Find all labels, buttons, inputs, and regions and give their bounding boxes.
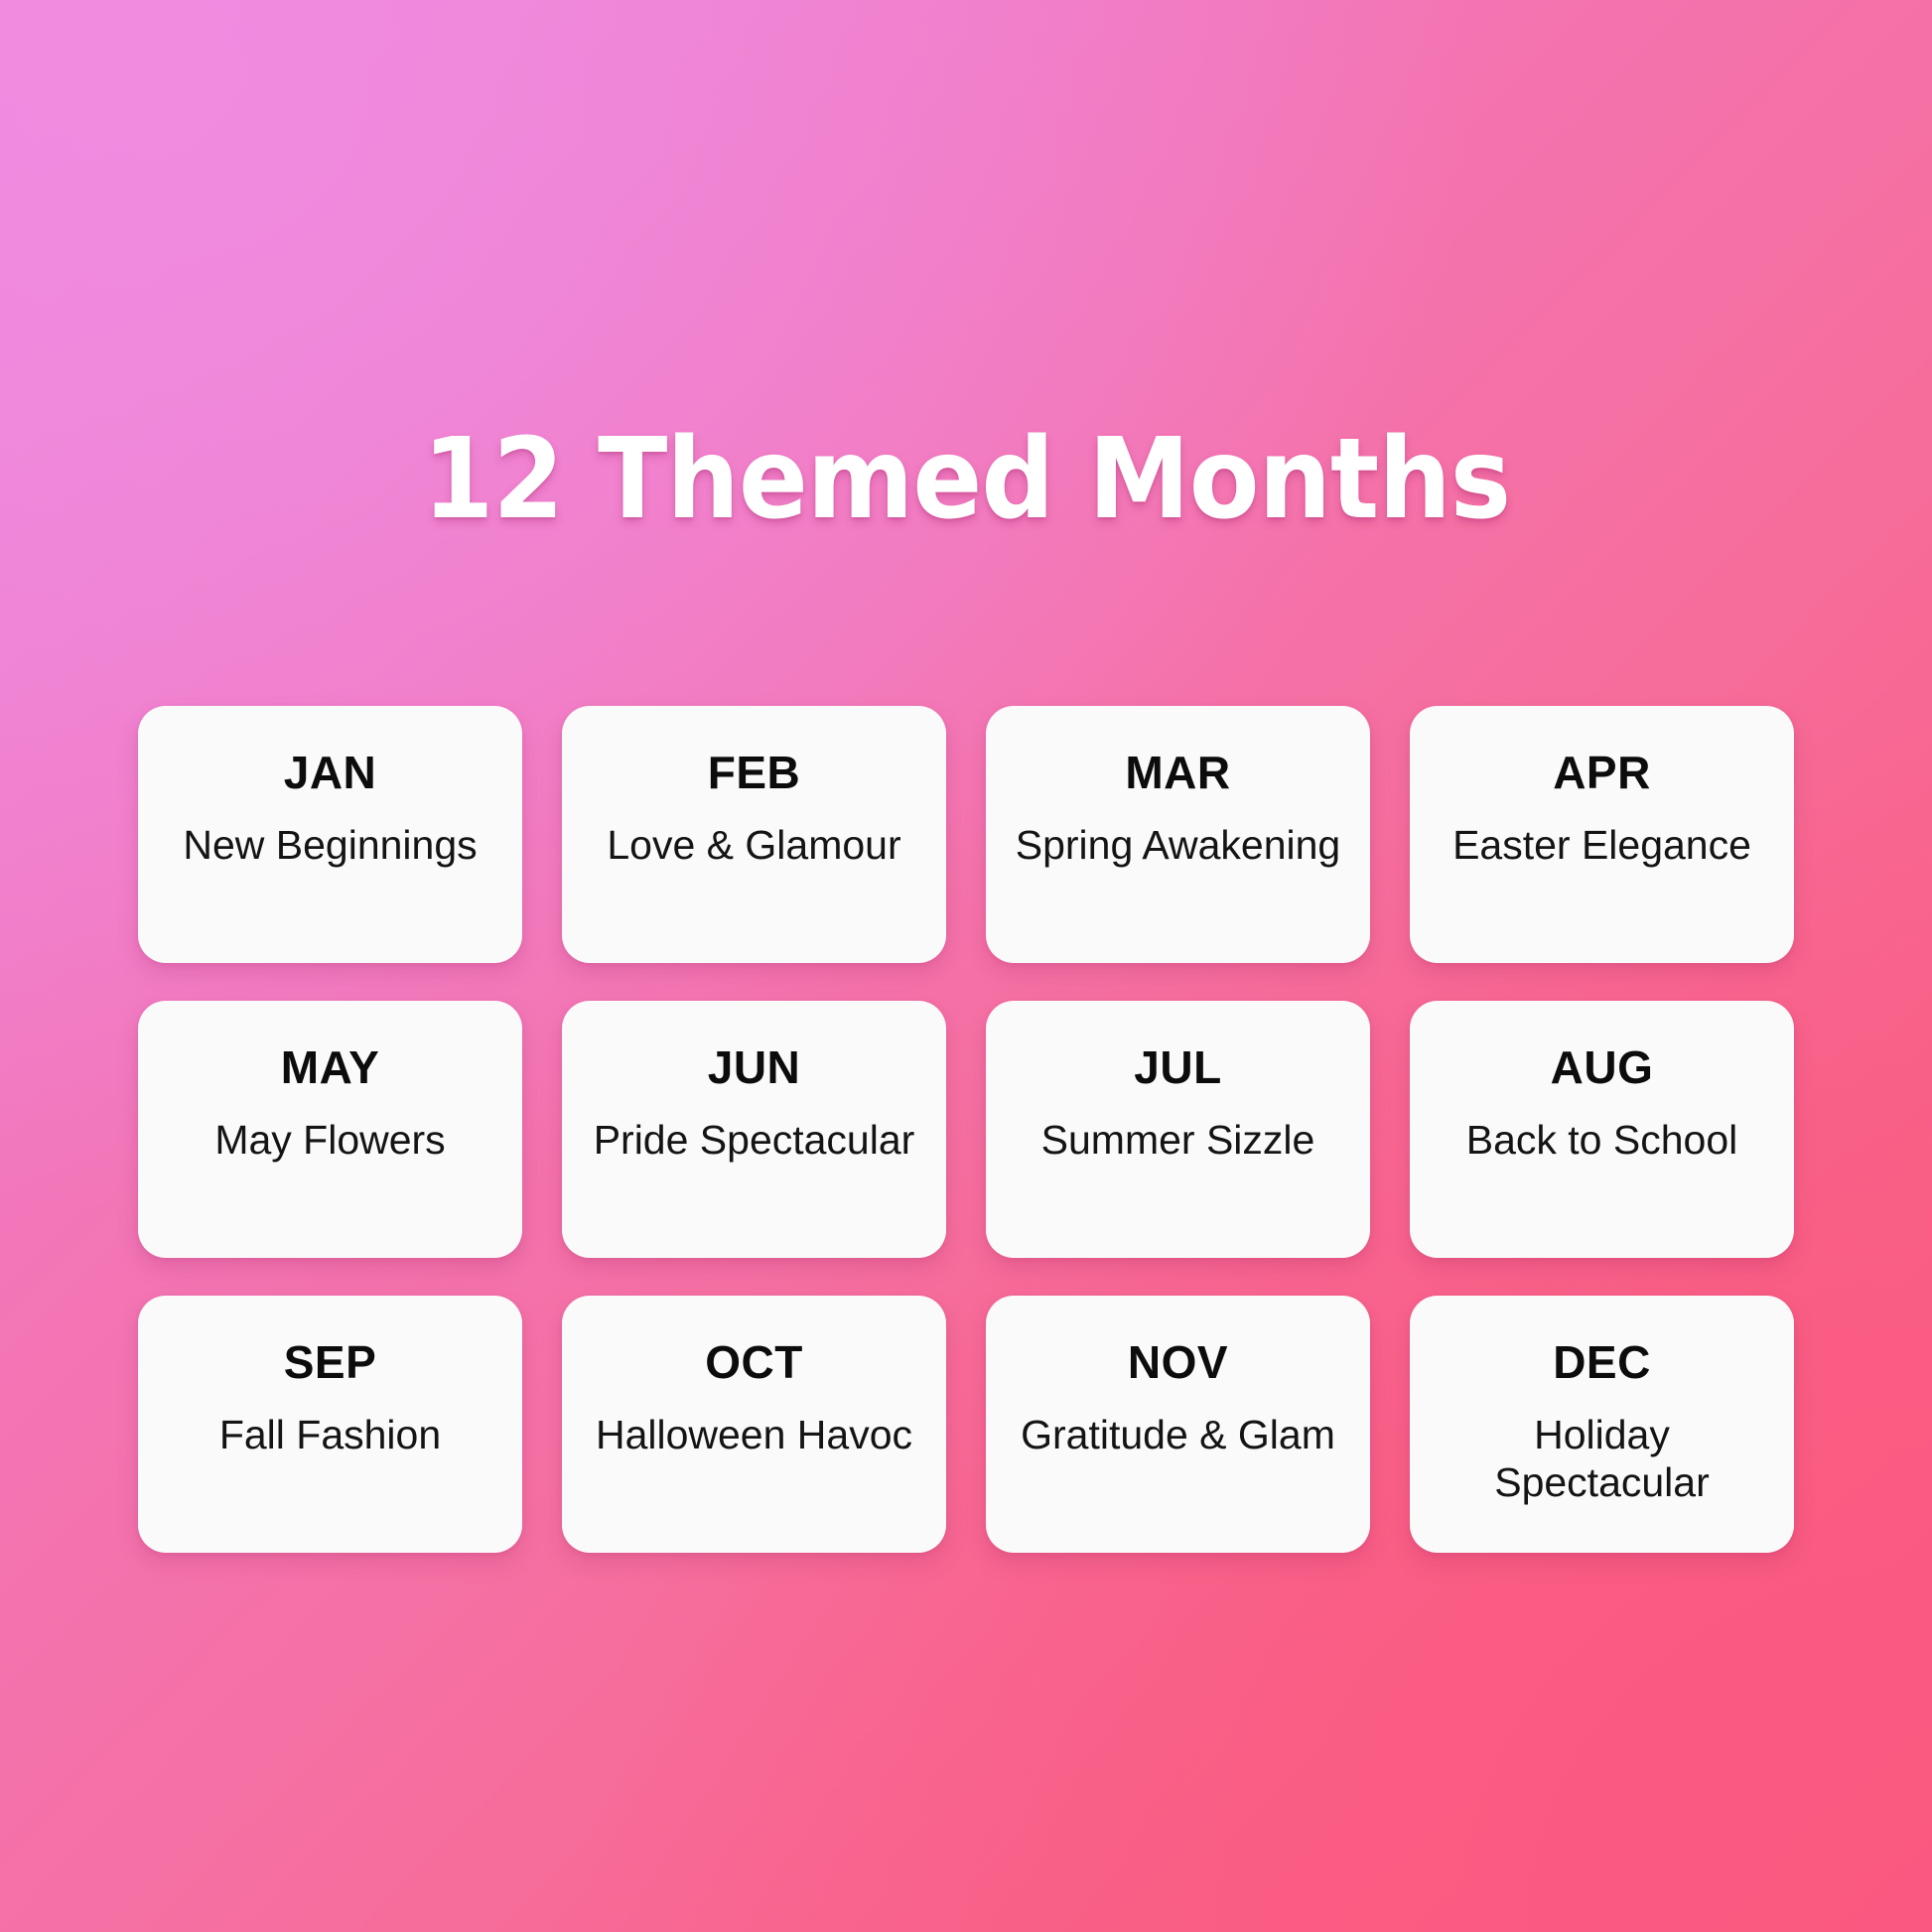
months-grid: JAN New Beginnings FEB Love & Glamour MA… [138,706,1794,1553]
month-card-mar[interactable]: MAR Spring Awakening [986,706,1370,963]
month-card-feb[interactable]: FEB Love & Glamour [562,706,946,963]
month-card-nov[interactable]: NOV Gratitude & Glam [986,1296,1370,1553]
month-theme-label: Pride Spectacular [594,1116,915,1164]
month-abbr-label: JUN [708,1044,801,1090]
month-abbr-label: OCT [705,1339,803,1385]
month-abbr-label: MAY [281,1044,380,1090]
month-theme-label: Fall Fashion [219,1411,441,1458]
month-abbr-label: SEP [284,1339,377,1385]
month-theme-label: Back to School [1466,1116,1738,1164]
month-card-jun[interactable]: JUN Pride Spectacular [562,1001,946,1258]
month-theme-label: Gratitude & Glam [1021,1411,1335,1458]
month-card-oct[interactable]: OCT Halloween Havoc [562,1296,946,1553]
poster-canvas: 12 Themed Months JAN New Beginnings FEB … [0,0,1932,1932]
month-theme-label: Holiday Spectacular [1434,1411,1771,1507]
month-abbr-label: FEB [708,750,801,795]
month-abbr-label: JUL [1134,1044,1221,1090]
month-card-apr[interactable]: APR Easter Elegance [1410,706,1794,963]
month-card-jan[interactable]: JAN New Beginnings [138,706,522,963]
month-theme-label: Halloween Havoc [596,1411,912,1458]
month-abbr-label: AUG [1551,1044,1654,1090]
month-card-aug[interactable]: AUG Back to School [1410,1001,1794,1258]
month-theme-label: Summer Sizzle [1041,1116,1315,1164]
month-abbr-label: MAR [1125,750,1230,795]
month-abbr-label: JAN [284,750,377,795]
month-abbr-label: DEC [1553,1339,1651,1385]
month-theme-label: New Beginnings [183,821,477,869]
month-abbr-label: APR [1553,750,1651,795]
page-title: 12 Themed Months [422,424,1510,535]
title-container: 12 Themed Months [0,349,1932,610]
month-theme-label: Spring Awakening [1016,821,1340,869]
month-card-jul[interactable]: JUL Summer Sizzle [986,1001,1370,1258]
month-abbr-label: NOV [1128,1339,1228,1385]
month-card-sep[interactable]: SEP Fall Fashion [138,1296,522,1553]
month-theme-label: Love & Glamour [607,821,900,869]
month-card-dec[interactable]: DEC Holiday Spectacular [1410,1296,1794,1553]
month-card-may[interactable]: MAY May Flowers [138,1001,522,1258]
month-theme-label: May Flowers [214,1116,445,1164]
month-theme-label: Easter Elegance [1452,821,1751,869]
